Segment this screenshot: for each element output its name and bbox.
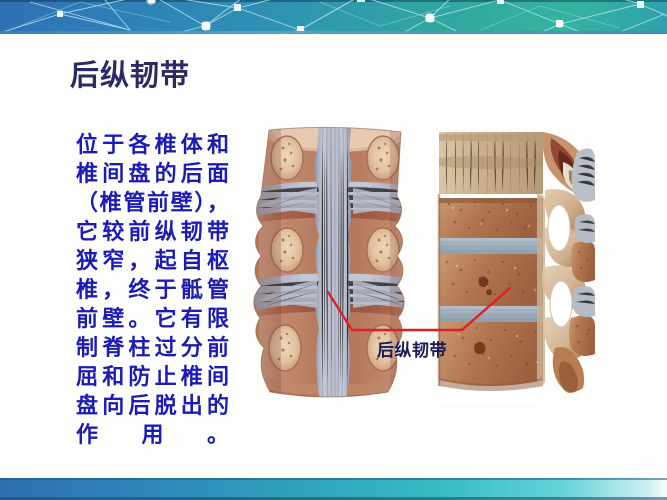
page-title: 后纵韧带 (70, 52, 190, 94)
network-pattern-graphic (0, 0, 667, 34)
figure-posterior-vertebral-column (253, 126, 418, 404)
header-bottom-edge (0, 31, 667, 34)
header-decoration-band (0, 0, 667, 34)
annotation-label-posterior-longitudinal-ligament: 后纵韧带 (377, 336, 447, 361)
body-paragraph: 位于各椎体和椎间盘的后面（椎管前壁），它较前纵韧带狭窄，起自枢椎，终于骶管前壁。… (76, 130, 229, 449)
footer-top-edge (0, 478, 667, 480)
figure-sagittal-section (437, 132, 595, 404)
presentation-slide: 后纵韧带 位于各椎体和椎间盘的后面（椎管前壁），它较前纵韧带狭窄，起自枢椎，终于… (0, 0, 667, 500)
footer-decoration-band (0, 478, 667, 500)
